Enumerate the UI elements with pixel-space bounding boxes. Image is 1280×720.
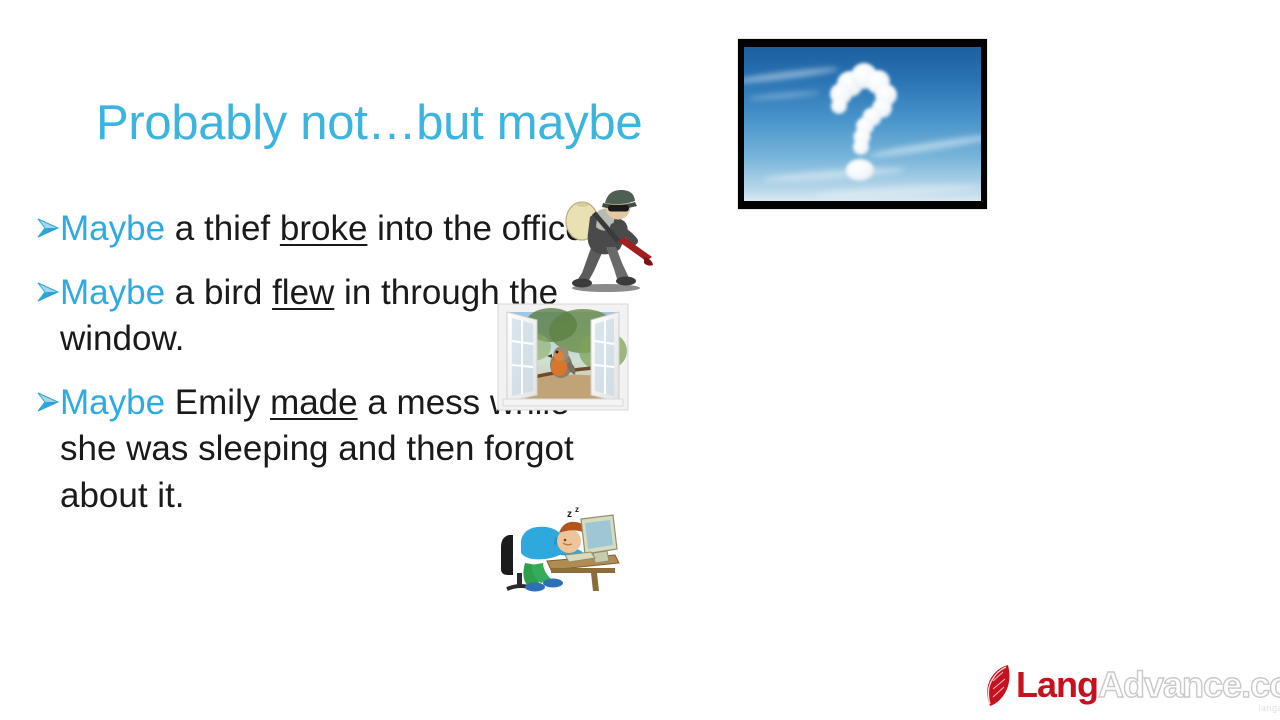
- logo-watermark: langadvance: [1259, 703, 1280, 713]
- keyword-maybe: Maybe: [60, 273, 165, 312]
- logo-lang-text: Lang: [1016, 664, 1098, 705]
- underlined-verb: made: [270, 383, 358, 422]
- open-window-bird-clipart: [497, 303, 629, 411]
- logo-advance-text: Advance.com: [1098, 664, 1280, 705]
- question-mark-cloud-photo-frame: [737, 38, 988, 210]
- underlined-verb: broke: [280, 209, 368, 248]
- bullet-segment-1: a thief: [165, 209, 280, 248]
- bullet-segment-1: a bird: [165, 273, 272, 312]
- langadvance-logo[interactable]: LangAdvance.com langadvance: [978, 660, 1280, 710]
- list-item-text: Maybe a bird flew in through the window.: [60, 273, 558, 359]
- keyword-maybe: Maybe: [60, 209, 165, 248]
- svg-text:z: z: [567, 509, 572, 520]
- burglar-clipart: [556, 183, 656, 293]
- page-title: Probably not…but maybe: [96, 98, 642, 149]
- cloud-question-mark-shape: [808, 58, 918, 190]
- svg-text:z: z: [575, 505, 579, 514]
- keyword-maybe: Maybe: [60, 383, 165, 422]
- underlined-verb: flew: [272, 273, 334, 312]
- logo-wordmark: LangAdvance.com: [1016, 667, 1280, 703]
- bullet-segment-1: Emily: [165, 383, 270, 422]
- question-mark-cloud-photo: [744, 47, 981, 201]
- arrowhead-bullet-icon: [35, 215, 61, 241]
- feather-quill-icon: [978, 663, 1012, 707]
- sleeping-at-computer-clipart: z z: [495, 505, 620, 595]
- arrowhead-bullet-icon: [35, 279, 61, 305]
- arrowhead-bullet-icon: [35, 389, 61, 415]
- list-item-text: Maybe a thief broke into the office.: [60, 209, 594, 248]
- list-item: Maybe a thief broke into the office.: [33, 206, 633, 253]
